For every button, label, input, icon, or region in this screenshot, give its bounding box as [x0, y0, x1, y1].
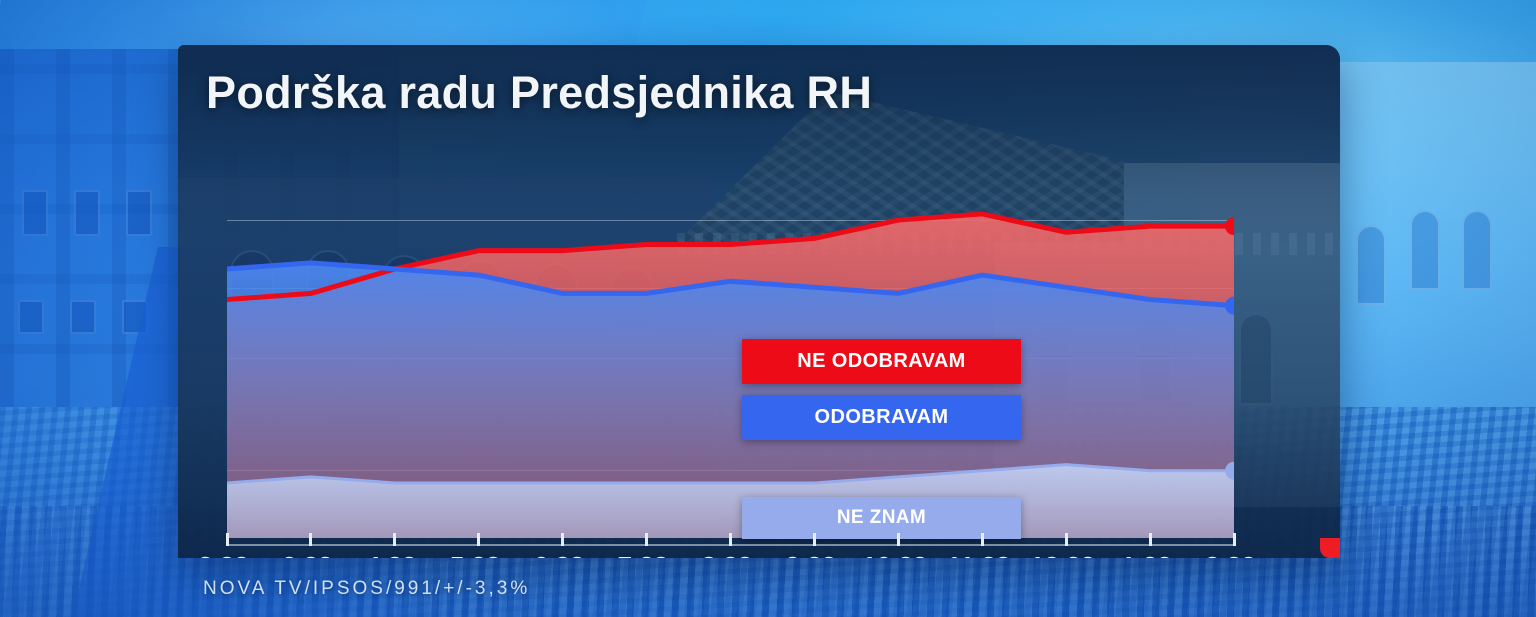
- legend-ne-odobravam[interactable]: NE ODOBRAVAM: [742, 339, 1021, 384]
- x-axis: 2.22.3.22.4.22.5.22.6.22.7.22.8.22.9.22.…: [227, 533, 1234, 558]
- x-axis-label: 1.23.: [1121, 551, 1179, 558]
- x-axis-label: 12.22.: [1030, 551, 1102, 558]
- source-credit: NOVA TV/IPSOS/991/+/-3,3%: [203, 578, 530, 600]
- legend-odobravam-label: ODOBRAVAM: [815, 406, 949, 429]
- x-axis-label: 2.23.: [1205, 551, 1263, 558]
- x-axis-tick: [561, 533, 564, 546]
- x-axis-tick: [1149, 533, 1152, 546]
- legend-ne-odobravam-label: NE ODOBRAVAM: [797, 350, 966, 373]
- x-axis-tick: [1233, 533, 1236, 546]
- x-axis-tick: [729, 533, 732, 546]
- x-axis-tick: [1065, 533, 1068, 546]
- panel-accent-corner: [1320, 538, 1340, 558]
- x-axis-label: 6.22.: [534, 551, 592, 558]
- legend-odobravam[interactable]: ODOBRAVAM: [742, 395, 1021, 440]
- x-axis-tick: [477, 533, 480, 546]
- legend-ne-znam-label: NE ZNAM: [837, 507, 926, 529]
- chart-series-svg: [227, 110, 1234, 538]
- chart-panel: Podrška radu Predsjednika RH NE ODOBRAVA…: [178, 45, 1340, 558]
- x-axis-tick: [393, 533, 396, 546]
- x-axis-tick: [981, 533, 984, 546]
- x-axis-label: 2.22.: [198, 551, 256, 558]
- x-axis-label: 3.22.: [282, 551, 340, 558]
- x-axis-tick: [309, 533, 312, 546]
- x-axis-tick: [813, 533, 816, 546]
- x-axis-label: 4.22.: [366, 551, 424, 558]
- x-axis-tick: [897, 533, 900, 546]
- x-axis-label: 11.22.: [947, 551, 1018, 558]
- x-axis-label: 10.22.: [862, 551, 934, 558]
- x-axis-tick: [645, 533, 648, 546]
- x-axis-label: 5.22.: [450, 551, 508, 558]
- chart-plot-area: [227, 110, 1234, 538]
- x-axis-tick: [226, 533, 229, 546]
- x-axis-label: 8.22.: [702, 551, 760, 558]
- x-axis-label: 7.22.: [618, 551, 676, 558]
- x-axis-label: 9.22.: [785, 551, 843, 558]
